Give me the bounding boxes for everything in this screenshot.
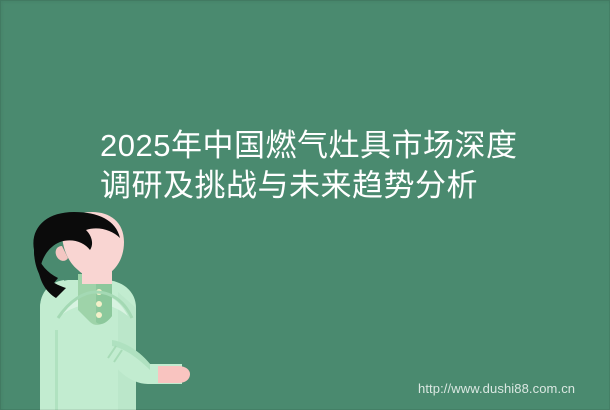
title-line-2: 调研及挑战与未来趋势分析 bbox=[100, 166, 520, 206]
person-gesturing-illustration bbox=[0, 212, 200, 410]
promotional-banner: 2025年中国燃气灶具市场深度 调研及挑战与未来趋势分析 http://www.… bbox=[0, 0, 610, 410]
title-line-1: 2025年中国燃气灶具市场深度 bbox=[100, 126, 520, 166]
watermark-url: http://www.dushi88.com.cn bbox=[418, 381, 575, 396]
banner-title: 2025年中国燃气灶具市场深度 调研及挑战与未来趋势分析 bbox=[100, 126, 520, 206]
